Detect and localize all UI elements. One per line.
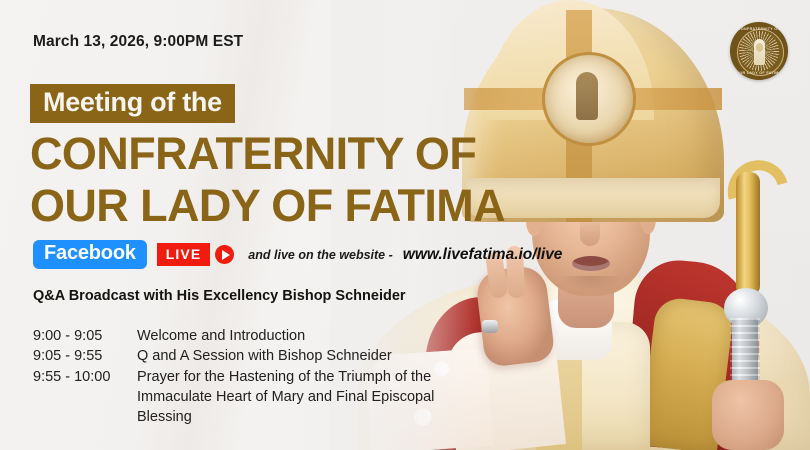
schedule-description: Q and A Session with Bishop Schneider	[137, 346, 392, 366]
schedule-time: 9:05 - 9:55	[33, 346, 137, 366]
schedule-time: 9:00 - 9:05	[33, 326, 137, 346]
website-note: and live on the website -	[248, 248, 392, 262]
schedule-description: Welcome and Introduction	[137, 326, 305, 346]
live-broadcast-bar: Facebook LIVE and live on the website - …	[33, 240, 562, 269]
crosier-holding-hand	[712, 380, 784, 450]
kicker-badge: Meeting of the	[30, 84, 235, 123]
page-title-line-1: CONFRATERNITY OF	[30, 131, 476, 176]
seal-text-top: CONFRATERNITY OF	[730, 27, 788, 31]
schedule-description: Prayer for the Hastening of the Triumph …	[137, 367, 477, 428]
mouth	[572, 256, 610, 271]
crosier-gold-section	[736, 172, 760, 296]
event-poster: CONFRATERNITY OF OUR LADY OF FATIMA Marc…	[0, 0, 810, 450]
schedule-time: 9:55 - 10:00	[33, 367, 137, 428]
schedule-row: 9:05 - 9:55 Q and A Session with Bishop …	[33, 346, 477, 366]
page-title-line-2: OUR LADY OF FATIMA	[30, 183, 505, 228]
live-tag-label: LIVE	[157, 243, 211, 267]
schedule-row: 9:55 - 10:00 Prayer for the Hastening of…	[33, 367, 477, 428]
play-icon	[215, 245, 234, 264]
website-url[interactable]: www.livefatima.io/live	[403, 246, 563, 264]
event-date-time: March 13, 2026, 9:00PM EST	[33, 33, 243, 51]
confraternity-seal-logo: CONFRATERNITY OF OUR LADY OF FATIMA	[730, 22, 788, 80]
episcopal-ring	[482, 320, 498, 333]
live-badge[interactable]: LIVE	[157, 243, 235, 267]
broadcast-subtitle: Q&A Broadcast with His Excellency Bishop…	[33, 288, 406, 304]
facebook-badge[interactable]: Facebook	[33, 240, 147, 269]
chin-shadow	[558, 276, 624, 292]
medallion-figure	[576, 72, 598, 120]
seal-madonna-face	[756, 43, 763, 52]
schedule-list: 9:00 - 9:05 Welcome and Introduction 9:0…	[33, 326, 477, 427]
schedule-row: 9:00 - 9:05 Welcome and Introduction	[33, 326, 477, 346]
seal-text-bottom: OUR LADY OF FATIMA	[730, 71, 788, 75]
